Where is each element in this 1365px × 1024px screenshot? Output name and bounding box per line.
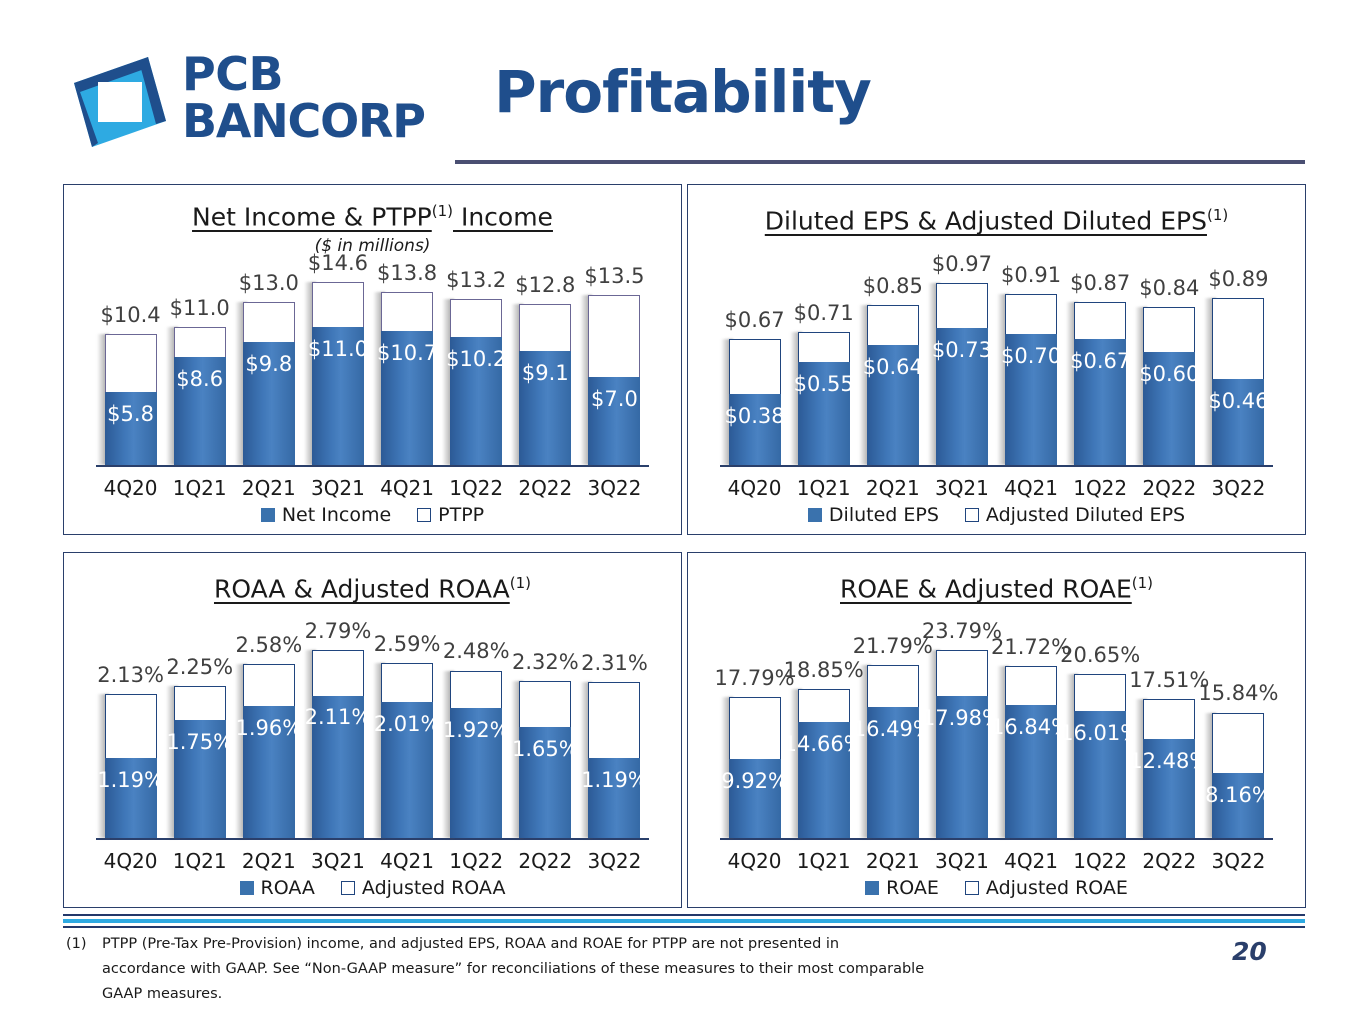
bar-column xyxy=(174,327,226,465)
footnote: (1) PTPP (Pre-Tax Pre-Provision) income,… xyxy=(66,932,926,1007)
bar-column xyxy=(243,302,295,465)
title-divider xyxy=(455,160,1305,164)
legend-swatch-icon xyxy=(965,508,979,522)
plot-area-diluted-eps: $0.67$0.38$0.71$0.55$0.85$0.64$0.97$0.73… xyxy=(720,266,1273,465)
bar-column xyxy=(105,334,157,465)
legend-item[interactable]: Adjusted ROAA xyxy=(341,877,506,899)
legend-label: ROAA xyxy=(261,877,315,899)
bar-column xyxy=(588,682,640,838)
x-axis-line xyxy=(720,838,1273,840)
page-title: Profitability xyxy=(0,58,1365,126)
bar-column xyxy=(867,305,919,465)
chart-legend-diluted-eps: Diluted EPSAdjusted Diluted EPS xyxy=(687,504,1306,526)
bar-column xyxy=(1005,666,1057,838)
legend-label: Adjusted ROAE xyxy=(986,877,1128,899)
x-axis-line xyxy=(96,838,649,840)
x-axis-line xyxy=(720,465,1273,467)
x-axis-label: 3Q22 xyxy=(564,476,664,500)
bar-column xyxy=(798,689,850,838)
chart-roaa: ROAA & Adjusted ROAA(1)2.13%1.19%2.25%1.… xyxy=(63,552,682,908)
bar-column xyxy=(798,332,850,465)
legend-item[interactable]: Net Income xyxy=(261,504,391,526)
x-axis-label: 3Q22 xyxy=(1188,849,1288,873)
chart-legend-net-income: Net IncomePTPP xyxy=(63,504,682,526)
chart-legend-roae: ROAEAdjusted ROAE xyxy=(687,877,1306,899)
legend-swatch-icon xyxy=(417,508,431,522)
footer-rule-top xyxy=(63,914,1305,916)
bar-column xyxy=(936,650,988,838)
legend-item[interactable]: Adjusted ROAE xyxy=(965,877,1128,899)
plot-area-net-income: $10.4$5.8$11.0$8.6$13.0$9.8$14.6$11.0$13… xyxy=(96,264,649,465)
chart-title-net-income: Net Income & PTPP(1) Income xyxy=(63,202,682,231)
bar-column xyxy=(729,339,781,465)
bar-total-label: $0.89 xyxy=(1178,267,1298,291)
chart-diluted-eps: Diluted EPS & Adjusted Diluted EPS(1)$0.… xyxy=(687,184,1306,535)
legend-swatch-icon xyxy=(865,881,879,895)
bar-column xyxy=(1005,294,1057,465)
bar-value-label: 8.16% xyxy=(1178,783,1298,807)
legend-item[interactable]: Adjusted Diluted EPS xyxy=(965,504,1185,526)
legend-label: Net Income xyxy=(282,504,391,526)
footer-rule-accent xyxy=(63,919,1305,923)
x-axis-label: 3Q22 xyxy=(1188,476,1288,500)
x-axis-line xyxy=(96,465,649,467)
legend-label: PTPP xyxy=(438,504,484,526)
bar-total-label: 2.31% xyxy=(554,651,674,675)
chart-net-income: Net Income & PTPP(1) Income($ in million… xyxy=(63,184,682,535)
bar-value-label: $0.46 xyxy=(1178,389,1298,413)
bar-column xyxy=(1212,298,1264,465)
page-number: 20 xyxy=(1232,937,1267,966)
legend-item[interactable]: ROAE xyxy=(865,877,939,899)
legend-swatch-icon xyxy=(240,881,254,895)
legend-swatch-icon xyxy=(341,881,355,895)
chart-title-roaa: ROAA & Adjusted ROAA(1) xyxy=(63,574,682,603)
legend-item[interactable]: PTPP xyxy=(417,504,484,526)
chart-roae: ROAE & Adjusted ROAE(1)17.79%9.92%18.85%… xyxy=(687,552,1306,908)
bar-column xyxy=(867,665,919,838)
chart-title-roae: ROAE & Adjusted ROAE(1) xyxy=(687,574,1306,603)
bar-column xyxy=(174,686,226,838)
legend-swatch-icon xyxy=(965,881,979,895)
legend-label: Adjusted Diluted EPS xyxy=(986,504,1185,526)
bar-column xyxy=(729,697,781,838)
bar-column xyxy=(243,664,295,838)
plot-area-roaa: 2.13%1.19%2.25%1.75%2.58%1.96%2.79%2.11%… xyxy=(96,632,649,838)
legend-item[interactable]: ROAA xyxy=(240,877,315,899)
legend-swatch-icon xyxy=(261,508,275,522)
chart-legend-roaa: ROAAAdjusted ROAA xyxy=(63,877,682,899)
bar-column xyxy=(381,663,433,838)
footer-rule-bottom xyxy=(63,926,1305,928)
bar-total-label: 20.65% xyxy=(1040,643,1160,667)
bar-column xyxy=(105,694,157,838)
plot-area-roae: 17.79%9.92%18.85%14.66%21.79%16.49%23.79… xyxy=(720,632,1273,838)
bar-total-label: $13.5 xyxy=(554,264,674,288)
bar-column xyxy=(312,650,364,838)
bar-column xyxy=(588,295,640,465)
bar-column xyxy=(381,292,433,465)
slide-header: PCB BANCORP Profitability xyxy=(0,0,1365,175)
legend-swatch-icon xyxy=(808,508,822,522)
chart-title-diluted-eps: Diluted EPS & Adjusted Diluted EPS(1) xyxy=(687,206,1306,235)
footnote-text: PTPP (Pre-Tax Pre-Provision) income, and… xyxy=(102,932,926,1007)
bar-value-label: 1.19% xyxy=(554,768,674,792)
bar-column xyxy=(312,282,364,465)
bar-column xyxy=(936,283,988,465)
x-axis-label: 3Q22 xyxy=(564,849,664,873)
legend-label: Diluted EPS xyxy=(829,504,939,526)
footnote-marker: (1) xyxy=(66,932,87,957)
legend-label: ROAE xyxy=(886,877,939,899)
bar-column xyxy=(1212,713,1264,839)
bar-total-label: 15.84% xyxy=(1178,681,1298,705)
bar-value-label: $7.0 xyxy=(554,387,674,411)
legend-label: Adjusted ROAA xyxy=(362,877,506,899)
legend-item[interactable]: Diluted EPS xyxy=(808,504,939,526)
